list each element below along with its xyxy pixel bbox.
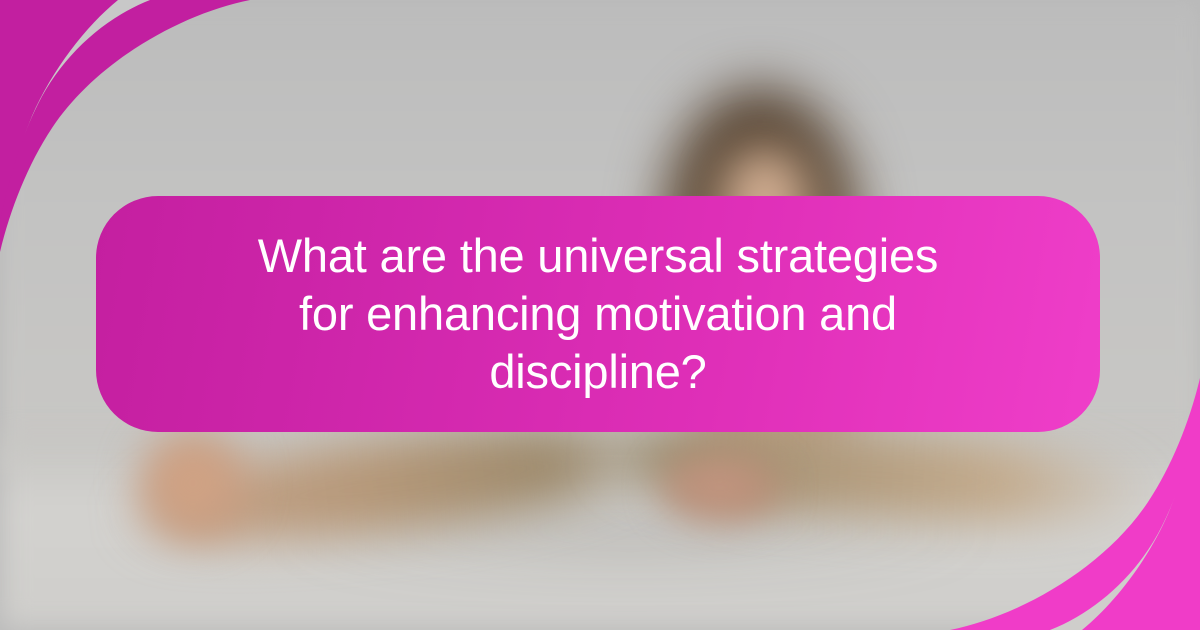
poster-canvas: What are the universal strategies for en… (0, 0, 1200, 630)
quote-card: What are the universal strategies for en… (96, 196, 1100, 432)
photo-left-foot (138, 428, 248, 538)
quote-text: What are the universal strategies for en… (248, 227, 948, 401)
photo-hand (660, 452, 780, 522)
